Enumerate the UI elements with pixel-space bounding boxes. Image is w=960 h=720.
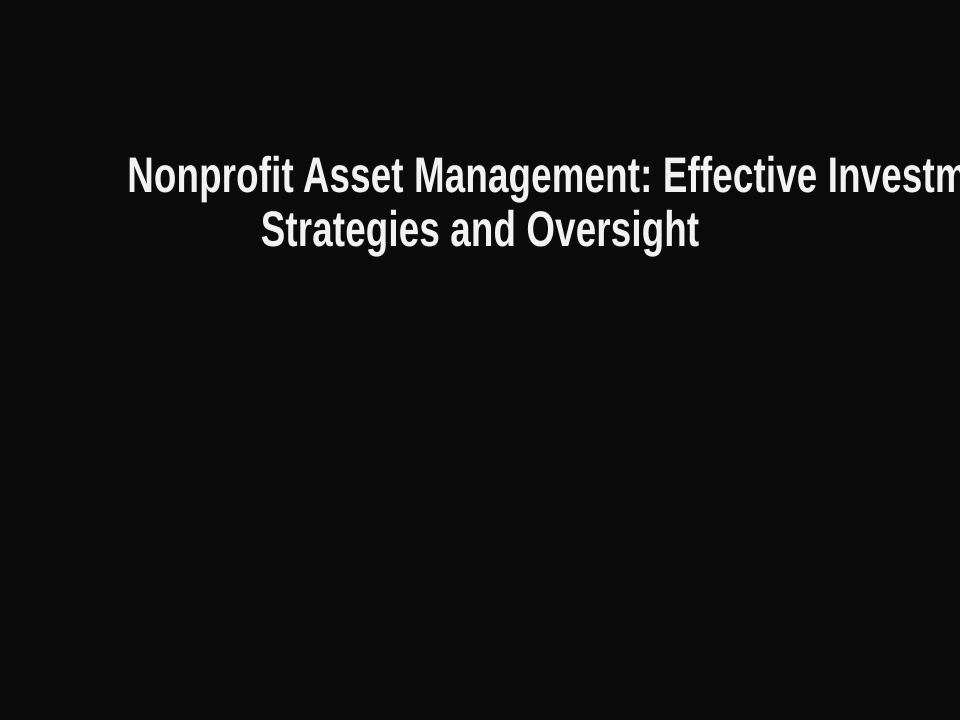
cover-title-line-1: Nonprofit Asset Management: Effective In… (127, 148, 833, 202)
cover-title-line-2: Strategies and Oversight (127, 202, 833, 256)
book-cover-canvas: Nonprofit Asset Management: Effective In… (0, 0, 960, 720)
cover-title-block: Nonprofit Asset Management: Effective In… (0, 148, 960, 256)
